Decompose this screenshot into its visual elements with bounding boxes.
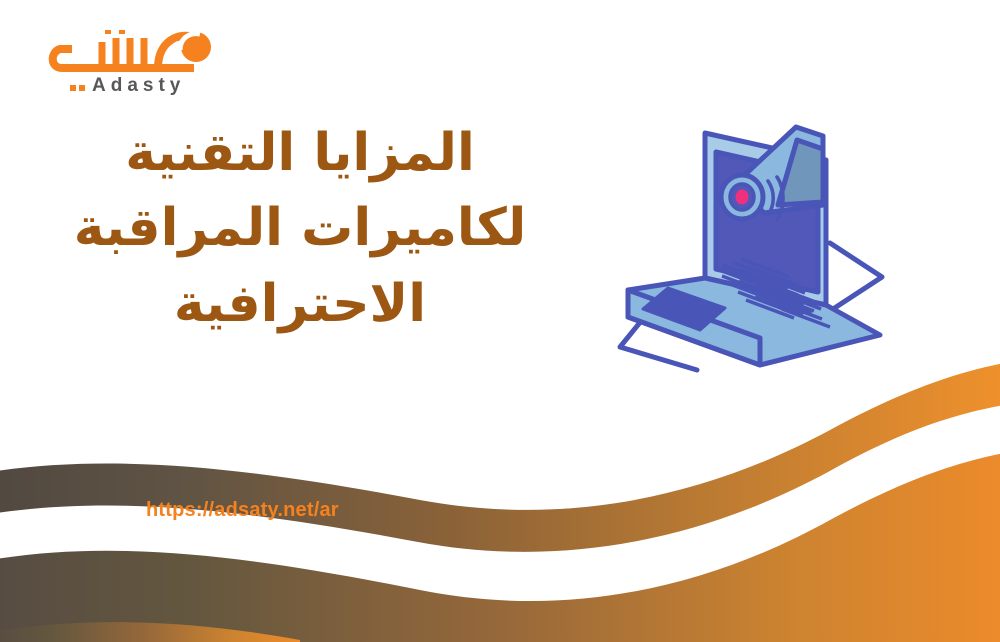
laptop-front-lip [628,290,760,365]
security-camera-shade-outline [778,140,823,205]
security-camera-signal-arcs [768,177,783,220]
security-camera-lens [721,175,763,219]
logo-accent-dots [70,85,90,92]
wave-band-lower [0,452,1000,642]
bracket-chevron-left [620,320,697,370]
security-camera-body [736,127,823,213]
wave-band-upper [0,362,1000,552]
page-title-line-2: لكاميرات المراقبة [30,191,570,266]
laptop-keyboard [714,259,830,327]
logo-wordmark: Adasty [92,76,185,95]
laptop-deck [628,278,880,365]
page-title-line-1: المزايا التقنية [30,116,570,191]
brand-logo[interactable]: Adasty [44,24,244,106]
laptop-trackpad [643,288,725,330]
website-url[interactable]: https://adsaty.net/ar [146,499,339,522]
wave-band-bottom-sliver [0,622,300,642]
poster-canvas: Adasty المزايا التقنية لكاميرات المراقبة… [0,0,1000,642]
security-camera-shade [778,140,823,205]
laptop-screen-outline [716,152,818,292]
page-title: المزايا التقنية لكاميرات المراقبة الاحتر… [30,116,570,342]
bracket-chevron-right [830,243,882,311]
laptop-lid-outer [705,133,826,305]
adasty-logomark-icon [44,24,224,76]
page-title-line-3: الاحترافية [30,267,570,342]
laptop-screen [716,152,818,292]
